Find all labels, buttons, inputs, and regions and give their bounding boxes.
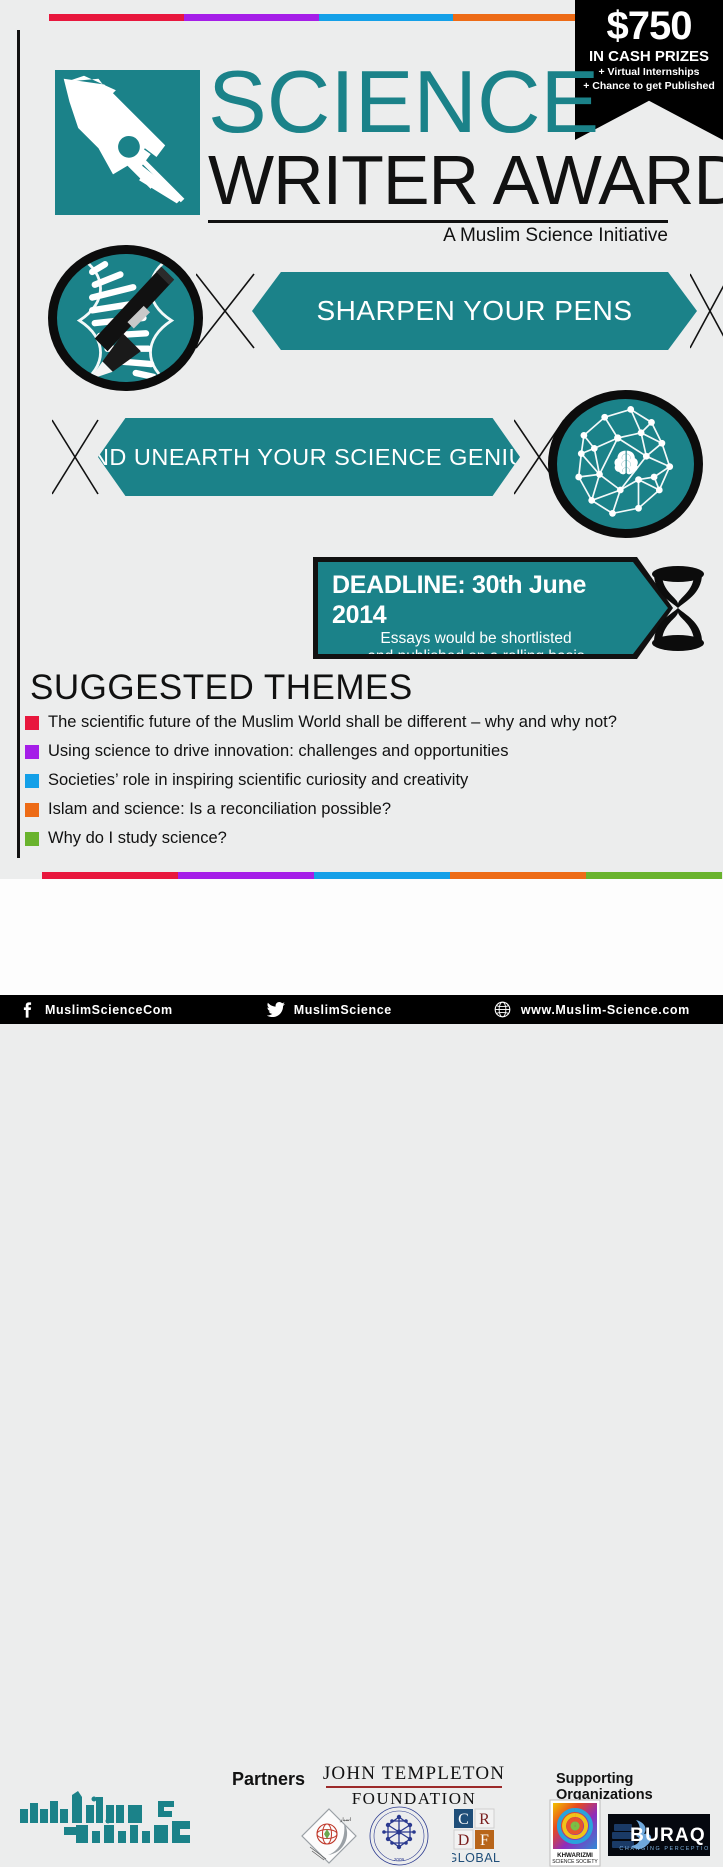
connector-x-left-2: [52, 416, 100, 500]
color-bar-segment-4: [450, 872, 586, 879]
khwarizmi-line-1: KHWARIZMI: [557, 1852, 593, 1859]
footer-logos-zone: Partners Supporting Organizations JOHN T…: [0, 879, 723, 995]
left-vertical-rule: [17, 30, 20, 858]
twitter-handle: MuslimScience: [294, 1003, 392, 1017]
theme-bullet-square: [25, 803, 39, 817]
poster-root: $750 IN CASH PRIZES + Virtual Internship…: [0, 0, 723, 1024]
banner-body: SHARPEN YOUR PENS: [252, 272, 697, 350]
john-templeton-foundation-logo: JOHN TEMPLETON FOUNDATION: [318, 1763, 510, 1809]
theme-text: Using science to drive innovation: chall…: [48, 742, 508, 761]
globe-icon: [492, 1001, 514, 1019]
website-url: www.Muslim-Science.com: [521, 1003, 690, 1017]
deadline-sub-line-1: Essays would be shortlisted: [332, 630, 638, 648]
banner-sharpen-your-pens: SHARPEN YOUR PENS: [252, 272, 697, 350]
title-divider: [208, 220, 668, 223]
deadline-body: DEADLINE: 30th June 2014 Essays would be…: [318, 562, 668, 654]
connector-x-left: [196, 270, 258, 354]
themes-list: The scientific future of the Muslim Worl…: [25, 708, 695, 853]
color-bar-segment-5: [586, 872, 722, 879]
title-tagline: A Muslim Science Initiative: [208, 225, 668, 247]
color-bar-segment-3: [314, 872, 450, 879]
theme-text: Why do I study science?: [48, 829, 227, 848]
facebook-link[interactable]: MuslimScienceCom: [16, 1001, 173, 1019]
theme-item: Islam and science: Is a reconciliation p…: [25, 795, 695, 824]
color-bar-segment-1: [42, 872, 178, 879]
astf-diamond-logo: اسبار: [300, 1807, 358, 1865]
svg-text:اسبار: اسبار: [339, 1817, 351, 1823]
hourglass-icon: [648, 564, 708, 652]
title-writer-award: WRITER AWARD: [208, 144, 668, 216]
svg-text:C: C: [458, 1811, 469, 1828]
banner-body: AND UNEARTH YOUR SCIENCE GENIUS: [98, 418, 520, 496]
crdf-word: GLOBAL: [452, 1851, 501, 1865]
prize-amount: $750: [575, 4, 723, 48]
website-link[interactable]: www.Muslim-Science.com: [492, 1001, 690, 1019]
theme-text: The scientific future of the Muslim Worl…: [48, 713, 617, 732]
khwarizmi-line-2: SCIENCE SOCIETY: [552, 1859, 598, 1865]
facebook-handle: MuslimScienceCom: [45, 1003, 173, 1017]
banner-label: AND UNEARTH YOUR SCIENCE GENIUS: [76, 444, 542, 471]
templeton-rule: [326, 1786, 502, 1788]
templeton-line-1: JOHN TEMPLETON: [318, 1763, 510, 1785]
themes-heading: SUGGESTED THEMES: [30, 668, 413, 708]
khwarizmi-science-society-logo: KHWARIZMI SCIENCE SOCIETY: [549, 1799, 601, 1867]
social-bar: MuslimScienceCom MuslimScience www.Mus: [0, 995, 723, 1024]
title-block: SCIENCE WRITER AWARD A Muslim Science In…: [208, 60, 668, 247]
theme-bullet-square: [25, 774, 39, 788]
theme-bullet-square: [25, 832, 39, 846]
banner-unearth-science-genius: AND UNEARTH YOUR SCIENCE GENIUS: [98, 418, 520, 496]
svg-text:F: F: [480, 1832, 489, 1849]
buraq-logo: BURAQ CHANGING PERCEPTIONS: [608, 1814, 710, 1856]
theme-text: Islam and science: Is a reconciliation p…: [48, 800, 391, 819]
partners-label: Partners: [232, 1769, 305, 1790]
facebook-icon: [16, 1001, 38, 1019]
theme-bullet-square: [25, 716, 39, 730]
theme-item: Societies’ role in inspiring scientific …: [25, 766, 695, 795]
buraq-name: BURAQ: [630, 1825, 706, 1846]
theme-text: Societies’ role in inspiring scientific …: [48, 771, 468, 790]
twitter-link[interactable]: MuslimScience: [265, 1001, 392, 1019]
astf-year: 2009: [394, 1857, 405, 1862]
svg-text:R: R: [479, 1811, 490, 1828]
color-bar-segment-3: [319, 14, 454, 21]
color-bar-segment-1: [49, 14, 184, 21]
arab-science-technology-foundation-logo: 2009: [368, 1805, 430, 1867]
svg-text:D: D: [458, 1832, 470, 1849]
footer-color-bar: [42, 872, 722, 879]
color-bar-segment-2: [178, 872, 314, 879]
banner-label: SHARPEN YOUR PENS: [316, 295, 632, 327]
color-bar-segment-4: [453, 14, 588, 21]
theme-item: Using science to drive innovation: chall…: [25, 737, 695, 766]
color-bar-segment-2: [184, 14, 319, 21]
theme-item: Why do I study science?: [25, 824, 695, 853]
connector-x-right: [690, 270, 723, 354]
theme-item: The scientific future of the Muslim Worl…: [25, 708, 695, 737]
deadline-main-text: DEADLINE: 30th June 2014: [332, 570, 638, 630]
twitter-icon: [265, 1001, 287, 1019]
brain-network-circle-icon: [548, 390, 703, 538]
crdf-global-logo: C R D F GLOBAL: [452, 1807, 514, 1865]
fountain-pen-circle-icon: [48, 245, 203, 391]
title-science: SCIENCE: [208, 60, 668, 144]
muslim-science-logo: [18, 1791, 218, 1851]
pen-nib-logo: [55, 70, 200, 215]
theme-bullet-square: [25, 745, 39, 759]
deadline-box: DEADLINE: 30th June 2014 Essays would be…: [318, 562, 668, 654]
buraq-tagline: CHANGING PERCEPTIONS: [619, 1846, 710, 1852]
